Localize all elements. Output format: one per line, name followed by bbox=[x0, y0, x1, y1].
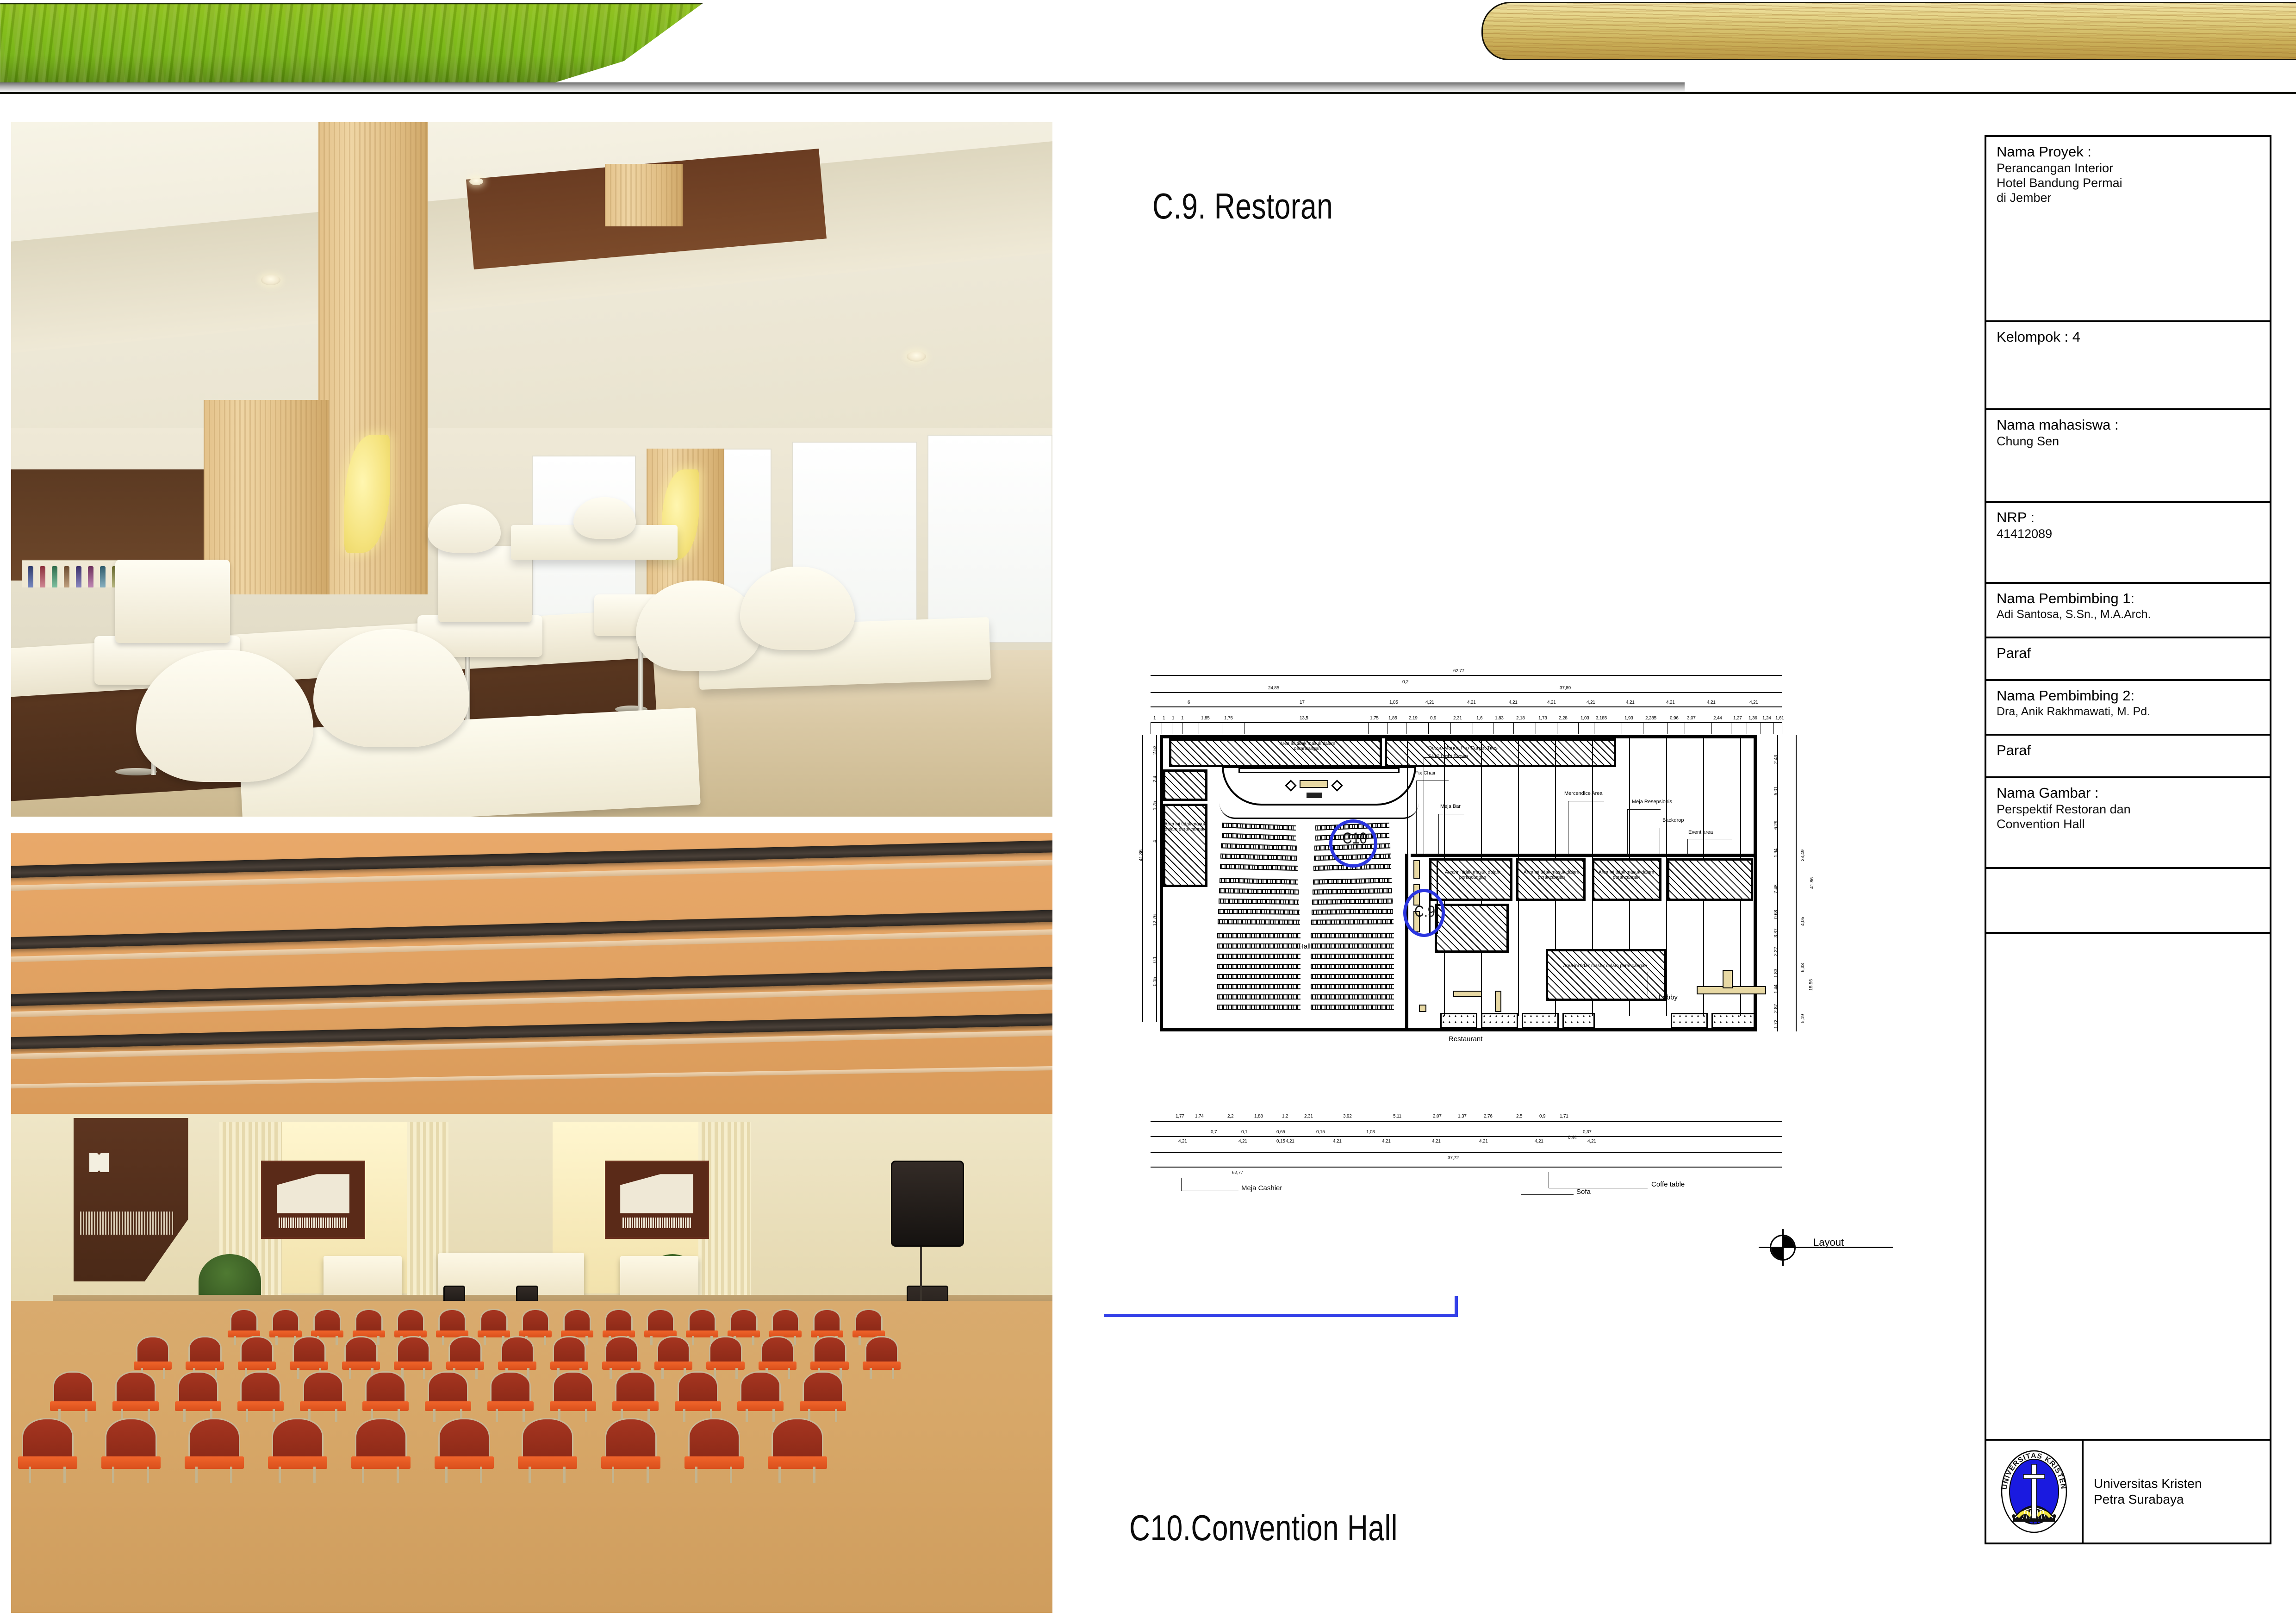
dim-line-vertical bbox=[1796, 735, 1797, 1031]
dim-chain3-11: 2,31 bbox=[1453, 716, 1462, 721]
field-label: Nama Pembimbing 1: bbox=[1997, 590, 2261, 607]
banquet-chair bbox=[522, 1418, 574, 1482]
annotation-backdrop: Backdrop bbox=[1662, 818, 1684, 823]
dim-chain2-6: 4,21 bbox=[1547, 700, 1556, 705]
dim-bot-small-5: 1,03 bbox=[1366, 1130, 1375, 1135]
annotation-fix-chair: Fix Chair bbox=[1415, 770, 1436, 776]
dim-left-2: 1,75 bbox=[1152, 801, 1157, 810]
dim-right-10: 1,83 bbox=[1773, 969, 1779, 978]
field-label: Paraf bbox=[1997, 742, 2261, 759]
dim-right-2: 6,29 bbox=[1773, 821, 1779, 830]
leader-line bbox=[1521, 1178, 1521, 1194]
wall-top bbox=[1160, 735, 1757, 738]
dim-chain2-7: 4,21 bbox=[1587, 700, 1595, 705]
dim-line bbox=[1151, 675, 1782, 676]
dim-chain2-2: 1,85 bbox=[1389, 700, 1398, 705]
dim-bot1-12: 0,9 bbox=[1539, 1114, 1545, 1119]
dim-right-total-4: 15,56 bbox=[1809, 979, 1814, 991]
downlight-icon bbox=[469, 178, 483, 185]
corridor-wall bbox=[1411, 854, 1757, 857]
dim-bot1-9: 1,37 bbox=[1458, 1114, 1467, 1119]
hd-logo-mark-icon bbox=[620, 1174, 693, 1213]
dim-line bbox=[1151, 1152, 1782, 1153]
dim-chain3-2: 1 bbox=[1172, 716, 1174, 721]
titleblock-row-kelompok: Kelompok : 4 bbox=[1986, 322, 2270, 410]
bar-stool-back bbox=[115, 560, 230, 643]
dim-right-total-0: 23,49 bbox=[1800, 849, 1805, 861]
dim-bot2-5: 4,21 bbox=[1432, 1139, 1441, 1144]
dim-bot1-5: 2,31 bbox=[1304, 1114, 1313, 1119]
dim-bot1-11: 2,5 bbox=[1516, 1114, 1522, 1119]
field-label: Nama Gambar : bbox=[1997, 785, 2261, 802]
dim-bot1-3: 1,88 bbox=[1254, 1114, 1263, 1119]
dim-chain3-7: 1,75 bbox=[1370, 716, 1379, 721]
dim-chain3-27: 1,61 bbox=[1775, 716, 1784, 721]
university-name-line1: Universitas Kristen bbox=[2094, 1476, 2202, 1492]
leader-line bbox=[1648, 972, 1648, 995]
banquet-chair bbox=[355, 1418, 407, 1482]
field-label: Paraf bbox=[1997, 645, 2261, 662]
dim-chain3-22: 3,07 bbox=[1687, 716, 1696, 721]
dim-bot1-6: 3,92 bbox=[1343, 1114, 1352, 1119]
field-label: NRP : bbox=[1997, 509, 2261, 526]
bottle-icon bbox=[52, 566, 57, 587]
hd-logo-mark-icon bbox=[277, 1174, 350, 1213]
field-value: 41412089 bbox=[1997, 526, 2261, 541]
dim-chain2-11: 4,21 bbox=[1749, 700, 1758, 705]
dim-left-5: 0,1 bbox=[1152, 956, 1157, 963]
wall-bottom bbox=[1160, 1028, 1757, 1031]
stage-backdrop-plan bbox=[1238, 768, 1400, 773]
field-value: Chung Sen bbox=[1997, 434, 2261, 449]
dim-chain3-20: 2,285 bbox=[1645, 716, 1656, 721]
dim-chain3-24: 1,27 bbox=[1733, 716, 1742, 721]
universitas-kristen-petra-logo-icon: UNIVERSITAS KRISTEN PETRA bbox=[1999, 1449, 2069, 1535]
restaurant-table-plan bbox=[1453, 991, 1482, 997]
dim-bot2-4: 4,21 bbox=[1382, 1139, 1391, 1144]
titleblock-row-blank-2 bbox=[1986, 934, 2270, 1496]
restaurant-chair-plan bbox=[1419, 1005, 1426, 1012]
field-value: Perancangan Interior Hotel Bandung Perma… bbox=[1997, 161, 2261, 206]
floor-finish-pattern bbox=[1711, 1013, 1756, 1029]
dim-bot1-4: 1,2 bbox=[1282, 1114, 1288, 1119]
banquet-chair bbox=[740, 1371, 781, 1421]
dim-chain2-3: 4,21 bbox=[1425, 700, 1434, 705]
titleblock-row-project: Nama Proyek : Perancangan Interior Hotel… bbox=[1986, 137, 2270, 322]
room-label-hall: Hall bbox=[1299, 943, 1311, 950]
university-logo-cell: UNIVERSITAS KRISTEN PETRA bbox=[1986, 1441, 2084, 1543]
dim-bot-small-6: 0,44 bbox=[1568, 1135, 1577, 1140]
page-title-restoran: C.9. Restoran bbox=[1152, 185, 1333, 227]
dim-chain1-0: 24,85 bbox=[1268, 686, 1279, 691]
banquet-chair bbox=[865, 1336, 898, 1378]
titleblock-row-blank-1 bbox=[1986, 869, 2270, 934]
excluded-area-note: Area ini tidak masuk dalam perancangan bbox=[1554, 964, 1656, 969]
dim-bot-small-0: 0,7 bbox=[1211, 1130, 1217, 1135]
excluded-area-hatch bbox=[1163, 769, 1207, 801]
banquet-chair bbox=[22, 1418, 74, 1482]
dim-right-3: 1,94 bbox=[1773, 849, 1779, 857]
dim-bot2-8: 4,21 bbox=[1587, 1139, 1596, 1144]
titleblock-row-supervisor1: Nama Pembimbing 1: Adi Santosa, S.Sn., M… bbox=[1986, 584, 2270, 638]
banner-hairline bbox=[0, 92, 2296, 94]
leader-line bbox=[1627, 809, 1628, 856]
university-name: Universitas Kristen Petra Surabaya bbox=[2094, 1476, 2202, 1507]
dim-line bbox=[1151, 722, 1782, 723]
dim-chain3-9: 2,19 bbox=[1409, 716, 1418, 721]
dim-chain3-4: 1,85 bbox=[1201, 716, 1210, 721]
dim-right-0: 2,43 bbox=[1773, 755, 1779, 764]
annotation-carpet-line1: Desso Menda Pro Carpet Tiles bbox=[1428, 745, 1498, 751]
dim-bot-total-0: 37,72 bbox=[1448, 1156, 1459, 1161]
dim-bot2-7: 4,21 bbox=[1535, 1139, 1543, 1144]
dim-right-total-1: 41,86 bbox=[1810, 877, 1815, 889]
dim-small-0: 0,2 bbox=[1402, 680, 1408, 685]
dim-line bbox=[1151, 692, 1782, 693]
field-label: Nama Pembimbing 2: bbox=[1997, 687, 2261, 705]
banquet-chair bbox=[678, 1371, 718, 1421]
title-block: Nama Proyek : Perancangan Interior Hotel… bbox=[1985, 135, 2271, 1544]
annotation-mercendice-area: Mercendice Area bbox=[1564, 791, 1603, 796]
dim-chain2-4: 4,21 bbox=[1467, 700, 1476, 705]
dim-left-3: 4 bbox=[1152, 840, 1157, 843]
floor-plan-drawing: 62,77 24,85 37,89 0,2 6 17 1,85 4,21 4,2… bbox=[1129, 667, 1819, 1264]
dim-line bbox=[1151, 1136, 1782, 1137]
leader-line bbox=[1687, 839, 1688, 856]
excluded-area-note: Area ini tidak masuk dalam perancangan bbox=[1523, 870, 1580, 880]
bottle-icon bbox=[64, 566, 69, 587]
banquet-chair bbox=[303, 1371, 343, 1421]
bar-counter-plan bbox=[1413, 860, 1420, 879]
dim-bot1-1: 1,74 bbox=[1195, 1114, 1204, 1119]
dim-line bbox=[1151, 1167, 1782, 1168]
leader-line bbox=[1181, 1191, 1238, 1191]
leader-line bbox=[1549, 1188, 1648, 1188]
dim-chain3-6: 13,5 bbox=[1300, 716, 1308, 721]
dim-chain2-5: 4,21 bbox=[1509, 700, 1518, 705]
dim-chain2-1: 17 bbox=[1300, 700, 1305, 705]
title-block-footer: UNIVERSITAS KRISTEN PETRA Universitas Kr… bbox=[1985, 1439, 2271, 1544]
callout-label-c9: C.9 bbox=[1414, 903, 1435, 921]
field-value: Dra, Anik Rakhmawati, M. Pd. bbox=[1997, 705, 2261, 718]
dim-chain3-0: 1 bbox=[1153, 716, 1156, 721]
floor-finish-pattern bbox=[1671, 1013, 1708, 1029]
dim-overall-width: 62,77 bbox=[1453, 668, 1464, 674]
excluded-area-hatch bbox=[1435, 904, 1509, 953]
titleblock-row-student: Nama mahasiswa : Chung Sen bbox=[1986, 410, 2270, 503]
stage-sofa bbox=[620, 1256, 698, 1297]
banquet-chair bbox=[53, 1371, 93, 1421]
dim-right-13: 2,87 bbox=[1773, 1004, 1779, 1013]
stage-sofa-plan bbox=[1300, 780, 1328, 788]
blue-marker-rule bbox=[1104, 1314, 1458, 1317]
hd-logo-panel bbox=[261, 1161, 365, 1238]
restaurant-table-plan bbox=[1495, 991, 1501, 1012]
dim-chain3-3: 1 bbox=[1181, 716, 1183, 721]
leader-line bbox=[1438, 814, 1464, 814]
titleblock-row-paraf2: Paraf bbox=[1986, 736, 2270, 778]
bandung-permai-flower-logo-icon bbox=[89, 1153, 109, 1172]
dim-chain3-8: 1,85 bbox=[1388, 716, 1397, 721]
leader-line bbox=[1660, 828, 1699, 828]
dim-bot-total-1: 62,77 bbox=[1232, 1170, 1243, 1175]
titleblock-row-drawing-name: Nama Gambar : Perspektif Restoran dan Co… bbox=[1986, 778, 2270, 869]
dim-right-5: 0,68 bbox=[1773, 910, 1779, 919]
leader-line bbox=[1627, 809, 1661, 810]
field-value: Perspektif Restoran dan Convention Hall bbox=[1997, 802, 2261, 832]
wall-left bbox=[1160, 735, 1163, 1031]
dim-bot1-2: 2,2 bbox=[1227, 1114, 1233, 1119]
hd-logo-subtext bbox=[279, 1218, 348, 1228]
dim-left-1: 2,4 bbox=[1152, 776, 1157, 782]
leader-line bbox=[1521, 1194, 1574, 1195]
dim-bot-small-2: 0,65 bbox=[1276, 1130, 1285, 1135]
dim-chain3-18: 3,185 bbox=[1596, 716, 1607, 721]
dim-chain2-0: 6 bbox=[1188, 700, 1190, 705]
banner-dropshadow bbox=[0, 82, 1685, 93]
excluded-area-hatch bbox=[1385, 738, 1616, 767]
banquet-chair bbox=[115, 1371, 156, 1421]
dim-bot1-8: 2,07 bbox=[1433, 1114, 1442, 1119]
titleblock-row-nrp: NRP : 41412089 bbox=[1986, 503, 2270, 584]
dim-line-vertical bbox=[1142, 735, 1143, 1022]
dim-chain3-16: 2,28 bbox=[1559, 716, 1568, 721]
dim-chain3-10: 0,9 bbox=[1430, 716, 1436, 721]
stage-table-plan bbox=[1307, 793, 1322, 798]
dim-right-6: 3,37 bbox=[1773, 929, 1779, 937]
downlight-icon bbox=[261, 275, 280, 285]
dim-chain3-13: 1,83 bbox=[1495, 716, 1504, 721]
banquet-chair bbox=[605, 1418, 657, 1482]
banquet-chair bbox=[428, 1371, 468, 1421]
drawing-reference-label: Layout bbox=[1813, 1237, 1844, 1249]
banquet-chair bbox=[553, 1371, 593, 1421]
annotation-carpet-line2: 5412 Light Brown bbox=[1428, 754, 1468, 759]
dim-bot-small-7: 0,37 bbox=[1583, 1130, 1592, 1135]
dim-right-total-5: 5,19 bbox=[1800, 1014, 1805, 1023]
annotation-meja-cashier: Meja Cashier bbox=[1241, 1184, 1282, 1192]
annotation-meja-bar: Meja Bar bbox=[1440, 804, 1461, 809]
dim-bot2-0: 4,21 bbox=[1178, 1139, 1187, 1144]
leader-line bbox=[1687, 839, 1732, 839]
dim-bot-small-3: 0,15 bbox=[1276, 1139, 1285, 1144]
annotation-coffe-table: Coffe table bbox=[1651, 1181, 1685, 1188]
dim-bot-small-1: 0,1 bbox=[1241, 1130, 1247, 1135]
dim-bot2-2: 4,21 bbox=[1286, 1139, 1294, 1144]
field-label: Nama Proyek : bbox=[1997, 144, 2261, 161]
dim-right-11: 1,44 bbox=[1773, 985, 1779, 993]
bottle-icon bbox=[40, 566, 45, 587]
excluded-area-hatch bbox=[1667, 858, 1753, 901]
dim-left-4: 12,76 bbox=[1152, 914, 1157, 926]
dim-line bbox=[1151, 1121, 1782, 1122]
dim-chain3-19: 1,93 bbox=[1624, 716, 1633, 721]
leader-line bbox=[1438, 814, 1439, 855]
dim-left-0: 2,53 bbox=[1152, 746, 1157, 755]
dim-chain3-25: 1,36 bbox=[1748, 716, 1757, 721]
dim-right-4: 7,48 bbox=[1773, 885, 1779, 893]
wood-grain-banner bbox=[1481, 2, 2296, 60]
hall-brand-wordmark bbox=[80, 1212, 174, 1235]
banquet-chair bbox=[803, 1371, 843, 1421]
banquet-chair bbox=[772, 1418, 824, 1482]
banquet-chair bbox=[272, 1418, 324, 1482]
dim-chain3-15: 1,73 bbox=[1538, 716, 1547, 721]
excluded-area-note: Area ini tidak masuk dalam perancangan bbox=[1440, 870, 1505, 880]
leader-line bbox=[1181, 1178, 1182, 1191]
dim-bot2-1: 4,21 bbox=[1238, 1139, 1247, 1144]
downlight-icon bbox=[907, 351, 926, 362]
bottle-icon bbox=[88, 566, 93, 587]
dim-chain3-14: 2,18 bbox=[1516, 716, 1525, 721]
header-banner bbox=[0, 0, 2296, 95]
annotation-sofa: Sofa bbox=[1576, 1188, 1591, 1196]
callout-label-c10: C10 bbox=[1343, 830, 1367, 848]
floor-finish-pattern bbox=[1481, 1013, 1518, 1029]
dim-chain2-10: 4,21 bbox=[1707, 700, 1716, 705]
dim-bot1-7: 5,11 bbox=[1393, 1114, 1401, 1119]
dim-left-6: 0,15 bbox=[1152, 977, 1157, 986]
excluded-area-note: Area ini tidak masuk dalam perancangan bbox=[1598, 870, 1655, 880]
leader-line bbox=[1660, 828, 1660, 856]
leader-line bbox=[1549, 1172, 1549, 1188]
photo-convention-hall-perspective bbox=[11, 833, 1052, 1613]
dim-bot-small-4: 0,15 bbox=[1316, 1130, 1325, 1135]
dim-chain3-21: 0,96 bbox=[1670, 716, 1679, 721]
hd-logo-subtext bbox=[622, 1218, 691, 1228]
leader-line bbox=[1568, 801, 1568, 855]
dim-chain3-12: 1,6 bbox=[1476, 716, 1482, 721]
window-pane bbox=[927, 435, 1052, 643]
excluded-area-hatch bbox=[1546, 949, 1666, 1001]
field-label: Kelompok : 4 bbox=[1997, 329, 2261, 346]
excluded-area-note: Area ini tidak masuk dalam perancangan bbox=[1268, 742, 1347, 751]
dim-chain3-23: 2,44 bbox=[1713, 716, 1722, 721]
titleblock-row-supervisor2: Nama Pembimbing 2: Dra, Anik Rakhmawati,… bbox=[1986, 681, 2270, 736]
banquet-chair bbox=[490, 1371, 531, 1421]
lobby-coffee-table-plan bbox=[1723, 970, 1733, 988]
dim-bot1-0: 1,77 bbox=[1176, 1114, 1184, 1119]
banquet-chair bbox=[105, 1418, 157, 1482]
dim-right-total-3: 6,33 bbox=[1800, 963, 1805, 972]
photo-restaurant-perspective bbox=[11, 122, 1052, 817]
blue-marker-tick bbox=[1455, 1296, 1458, 1317]
banquet-chair bbox=[615, 1371, 656, 1421]
dim-left-overall: 41,86 bbox=[1139, 849, 1144, 861]
room-label-restaurant: Restaurant bbox=[1449, 1035, 1482, 1043]
floor-finish-pattern bbox=[1562, 1013, 1595, 1029]
dim-right-8: 2,22 bbox=[1773, 947, 1779, 956]
excluded-area-note: Area ini tidak masuk dalam perancangan bbox=[1164, 822, 1207, 832]
dim-chain3-5: 1,75 bbox=[1224, 716, 1233, 721]
dim-right-15: 1,72 bbox=[1773, 1020, 1779, 1029]
banquet-chair bbox=[240, 1371, 281, 1421]
banquet-chair bbox=[438, 1418, 491, 1482]
banquet-chair bbox=[178, 1371, 218, 1421]
dim-chain3-1: 1 bbox=[1163, 716, 1165, 721]
dim-bot2-3: 4,21 bbox=[1333, 1139, 1342, 1144]
field-label: Nama mahasiswa : bbox=[1997, 417, 2261, 434]
hd-logo-panel bbox=[605, 1161, 709, 1238]
wood-column bbox=[605, 164, 683, 226]
university-name-cell: Universitas Kristen Petra Surabaya bbox=[2084, 1441, 2270, 1543]
dim-right-1: 5,01 bbox=[1773, 787, 1779, 795]
dim-chain3-26: 1,24 bbox=[1762, 716, 1771, 721]
dim-bot2-6: 4,21 bbox=[1479, 1139, 1488, 1144]
titleblock-row-paraf1: Paraf bbox=[1986, 638, 2270, 681]
stage-curve-line bbox=[1220, 803, 1419, 819]
annotation-meja-resepsionis: Meja Resepsionis bbox=[1632, 799, 1672, 805]
banquet-chair bbox=[688, 1418, 740, 1482]
presentation-board: C.9. Restoran C10.Convention Hall 62,77 … bbox=[0, 0, 2296, 1624]
bottle-icon bbox=[28, 566, 33, 587]
leader-line bbox=[1568, 801, 1604, 801]
annotation-event-area: Event area bbox=[1688, 830, 1713, 835]
dim-chain3-17: 1,03 bbox=[1580, 716, 1589, 721]
page-title-convention-hall: C10.Convention Hall bbox=[1129, 1507, 1398, 1549]
dim-chain2-9: 4,21 bbox=[1666, 700, 1675, 705]
dim-chain1-1: 37,89 bbox=[1560, 686, 1571, 691]
dim-line bbox=[1151, 706, 1782, 707]
leader-line bbox=[1416, 781, 1449, 781]
restaurant-wall bbox=[1405, 854, 1408, 1030]
bottle-icon bbox=[76, 566, 81, 587]
dim-bot1-10: 2,76 bbox=[1484, 1114, 1493, 1119]
leader-line bbox=[1416, 781, 1417, 855]
bottle-icon bbox=[100, 566, 106, 587]
dim-bot1-13: 1,71 bbox=[1560, 1114, 1568, 1119]
floor-speaker-icon bbox=[891, 1161, 964, 1246]
stage-sofa bbox=[324, 1256, 402, 1297]
dim-chain2-8: 4,21 bbox=[1626, 700, 1635, 705]
floor-finish-pattern bbox=[1440, 1013, 1477, 1029]
field-value: Adi Santosa, S.Sn., M.A.Arch. bbox=[1997, 607, 2261, 621]
banquet-chair bbox=[365, 1371, 406, 1421]
dim-right-total-2: 4,05 bbox=[1800, 917, 1805, 926]
university-name-line2: Petra Surabaya bbox=[2094, 1492, 2202, 1507]
excluded-area-hatch bbox=[1163, 804, 1207, 887]
room-label-lobby: Lobby bbox=[1659, 993, 1678, 1001]
banquet-chair bbox=[188, 1418, 241, 1482]
floor-finish-pattern bbox=[1522, 1013, 1559, 1029]
